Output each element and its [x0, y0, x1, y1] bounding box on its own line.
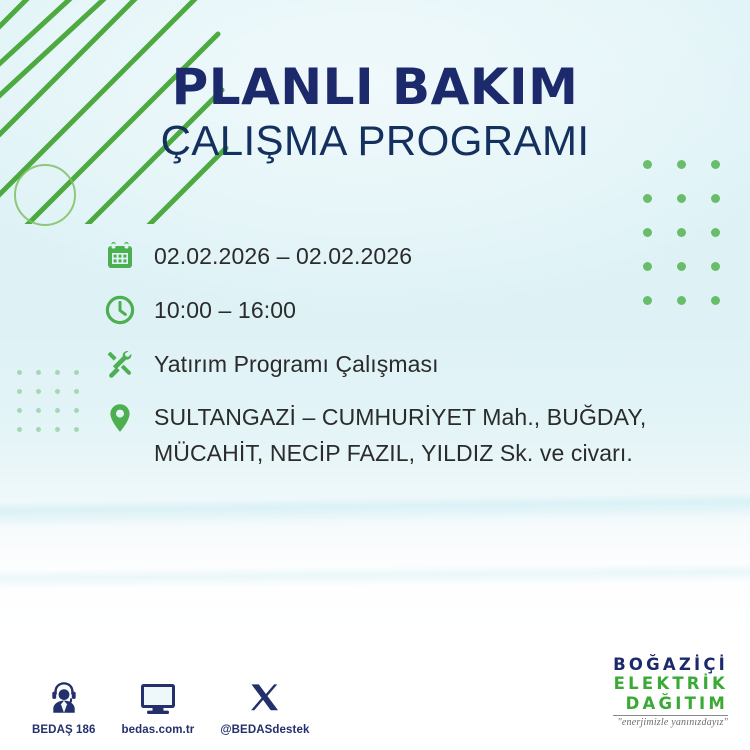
- brand-line-3: DAĞITIM: [613, 696, 728, 713]
- brand-line-2: ELEKTRİK: [613, 676, 728, 693]
- calendar-icon: [100, 236, 140, 276]
- planned-maintenance-poster: PLANLI BAKIM ÇALIŞMA PROGRAMI: [0, 0, 750, 750]
- info-row-location-text: SULTANGAZİ – CUMHURİYET Mah., BUĞDAY, MÜ…: [154, 398, 700, 471]
- contact-x-label: @BEDASdestek: [220, 724, 309, 736]
- location-pin-icon: [100, 398, 140, 438]
- page-title: PLANLI BAKIM: [0, 62, 750, 113]
- background-wave-band-upper: [0, 492, 750, 528]
- info-row-worktype: Yatırım Programı Çalışması: [100, 344, 700, 384]
- info-row-time: 10:00 – 16:00: [100, 290, 700, 330]
- info-row-worktype-text: Yatırım Programı Çalışması: [154, 344, 439, 381]
- brand-tagline: "enerjimizle yanınızdayız": [613, 715, 728, 728]
- contact-phone[interactable]: BEDAŞ 186: [32, 673, 96, 736]
- background-wave-band-lower: [0, 562, 750, 589]
- dot-grid-left: [10, 363, 86, 439]
- monitor-icon: [138, 673, 178, 717]
- info-row-date: 02.02.2026 – 02.02.2026: [100, 236, 700, 276]
- info-list: 02.02.2026 – 02.02.2026 10:00 – 16:00: [100, 236, 700, 471]
- brand-logo: BOĞAZİÇİ ELEKTRİK DAĞITIM "enerjimizle y…: [613, 657, 728, 729]
- support-agent-icon: [46, 673, 82, 717]
- tools-icon: [100, 344, 140, 384]
- page-subtitle: ÇALIŞMA PROGRAMI: [0, 119, 750, 163]
- footer-contacts: BEDAŞ 186 bedas.com.tr: [32, 673, 309, 736]
- contact-phone-label: BEDAŞ 186: [32, 724, 96, 736]
- contact-website[interactable]: bedas.com.tr: [122, 673, 195, 736]
- brand-line-1: BOĞAZİÇİ: [613, 657, 728, 674]
- info-row-date-text: 02.02.2026 – 02.02.2026: [154, 236, 412, 273]
- contact-x[interactable]: @BEDASdestek: [220, 673, 309, 736]
- circle-outline-decoration: [14, 164, 76, 226]
- clock-icon: [100, 290, 140, 330]
- x-twitter-icon: [247, 673, 283, 717]
- info-row-location: SULTANGAZİ – CUMHURİYET Mah., BUĞDAY, MÜ…: [100, 398, 700, 471]
- info-row-time-text: 10:00 – 16:00: [154, 290, 296, 327]
- poster-header: PLANLI BAKIM ÇALIŞMA PROGRAMI: [0, 62, 750, 163]
- contact-website-label: bedas.com.tr: [122, 724, 195, 736]
